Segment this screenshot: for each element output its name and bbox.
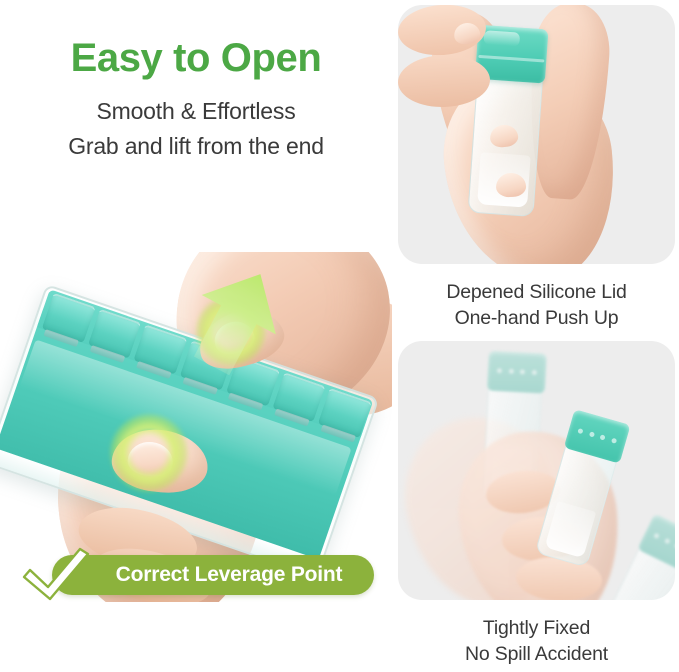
- feature-panel-bottom: [398, 341, 675, 600]
- caption-bottom-line-1: Tightly Fixed: [396, 615, 677, 641]
- silicone-lid: [564, 409, 631, 463]
- subtitle-line-2: Grab and lift from the end: [0, 132, 392, 161]
- correct-leverage-badge: Correct Leverage Point: [18, 551, 374, 597]
- container-contents: [545, 501, 597, 558]
- lid-texture-dots: [497, 368, 537, 376]
- caption-top-line-1: Depened Silicone Lid: [396, 279, 677, 305]
- feature-panel-top: [398, 5, 675, 264]
- caption-bottom: Tightly Fixed No Spill Accident: [396, 615, 677, 667]
- silicone-lid: [487, 351, 547, 394]
- left-column: Easy to Open Smooth & Effortless Grab an…: [0, 0, 392, 672]
- panel-top-fingernail: [496, 172, 527, 197]
- lid-texture-dots: [577, 428, 617, 445]
- badge-pill: Correct Leverage Point: [52, 555, 374, 595]
- page-title: Easy to Open: [0, 36, 392, 81]
- caption-bottom-line-2: No Spill Accident: [396, 641, 677, 667]
- lid-highlight: [483, 30, 520, 46]
- headline-block: Easy to Open Smooth & Effortless Grab an…: [0, 36, 392, 162]
- lid-texture-dots: [653, 533, 675, 556]
- silicone-lid: [637, 513, 675, 574]
- badge-label: Correct Leverage Point: [84, 563, 343, 587]
- product-feature-image: Easy to Open Smooth & Effortless Grab an…: [0, 0, 679, 672]
- check-mark-icon: [18, 543, 96, 603]
- caption-top: Depened Silicone Lid One-hand Push Up: [396, 279, 677, 331]
- lid-seam: [478, 55, 544, 63]
- caption-top-line-2: One-hand Push Up: [396, 305, 677, 331]
- subtitle-line-1: Smooth & Effortless: [0, 97, 392, 126]
